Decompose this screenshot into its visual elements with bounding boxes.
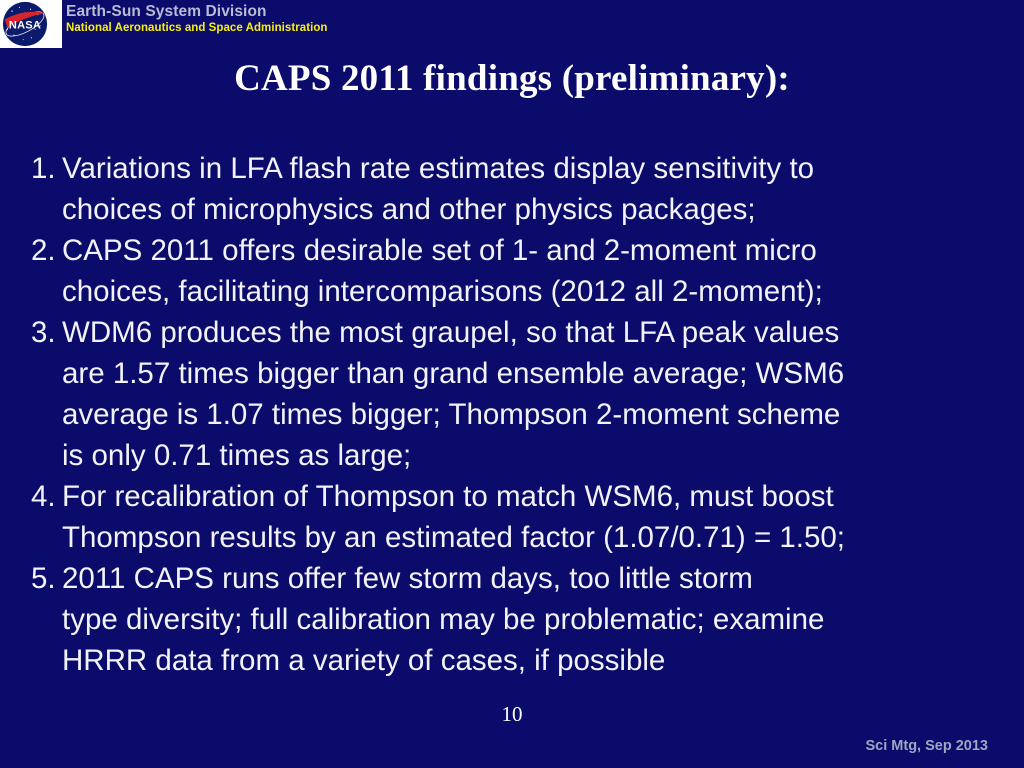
list-item: 2.CAPS 2011 offers desirable set of 1- a… bbox=[31, 230, 1016, 312]
list-item-line: average is 1.07 times bigger; Thompson 2… bbox=[62, 394, 1016, 435]
list-item-line: For recalibration of Thompson to match W… bbox=[62, 476, 1016, 517]
list-item-line: Variations in LFA flash rate estimates d… bbox=[62, 148, 1016, 189]
division-title: Earth-Sun System Division bbox=[66, 2, 327, 21]
header-banner: NASA Earth-Sun System Division National … bbox=[0, 0, 1024, 48]
list-item-number: 3. bbox=[31, 312, 62, 353]
nasa-meatball-icon: NASA bbox=[2, 1, 48, 47]
findings-list: 1.Variations in LFA flash rate estimates… bbox=[31, 148, 1016, 681]
list-item-text: Variations in LFA flash rate estimates d… bbox=[62, 148, 1016, 230]
list-item-number: 5. bbox=[31, 558, 62, 599]
list-item: 1.Variations in LFA flash rate estimates… bbox=[31, 148, 1016, 230]
list-item-line: Thompson results by an estimated factor … bbox=[62, 517, 1016, 558]
list-item: 4.For recalibration of Thompson to match… bbox=[31, 476, 1016, 558]
page-number: 10 bbox=[0, 702, 1024, 727]
list-item-text: 2011 CAPS runs offer few storm days, too… bbox=[62, 558, 1016, 681]
list-item-line: are 1.57 times bigger than grand ensembl… bbox=[62, 353, 1016, 394]
header-text-block: Earth-Sun System Division National Aeron… bbox=[66, 2, 327, 35]
list-item-line: is only 0.71 times as large; bbox=[62, 435, 1016, 476]
list-item-line: WDM6 produces the most graupel, so that … bbox=[62, 312, 1016, 353]
list-item-line: 2011 CAPS runs offer few storm days, too… bbox=[62, 558, 1016, 599]
list-item-text: CAPS 2011 offers desirable set of 1- and… bbox=[62, 230, 1016, 312]
svg-text:NASA: NASA bbox=[9, 20, 41, 32]
page-number-value: 10 bbox=[502, 702, 523, 726]
list-item-line: HRRR data from a variety of cases, if po… bbox=[62, 640, 1016, 681]
list-item-line: choices, facilitating intercomparisons (… bbox=[62, 271, 1016, 312]
list-item-number: 4. bbox=[31, 476, 62, 517]
list-item: 3.WDM6 produces the most graupel, so tha… bbox=[31, 312, 1016, 476]
nasa-logo-plate: NASA bbox=[0, 0, 62, 48]
footer-meeting-label: Sci Mtg, Sep 2013 bbox=[866, 738, 989, 754]
list-item-text: WDM6 produces the most graupel, so that … bbox=[62, 312, 1016, 476]
page-title: CAPS 2011 findings (preliminary): bbox=[0, 57, 1024, 100]
list-item: 5.2011 CAPS runs offer few storm days, t… bbox=[31, 558, 1016, 681]
list-item-number: 1. bbox=[31, 148, 62, 189]
list-item-text: For recalibration of Thompson to match W… bbox=[62, 476, 1016, 558]
list-item-line: CAPS 2011 offers desirable set of 1- and… bbox=[62, 230, 1016, 271]
agency-name: National Aeronautics and Space Administr… bbox=[66, 21, 327, 35]
list-item-line: type diversity; full calibration may be … bbox=[62, 599, 1016, 640]
list-item-line: choices of microphysics and other physic… bbox=[62, 189, 1016, 230]
list-item-number: 2. bbox=[31, 230, 62, 271]
